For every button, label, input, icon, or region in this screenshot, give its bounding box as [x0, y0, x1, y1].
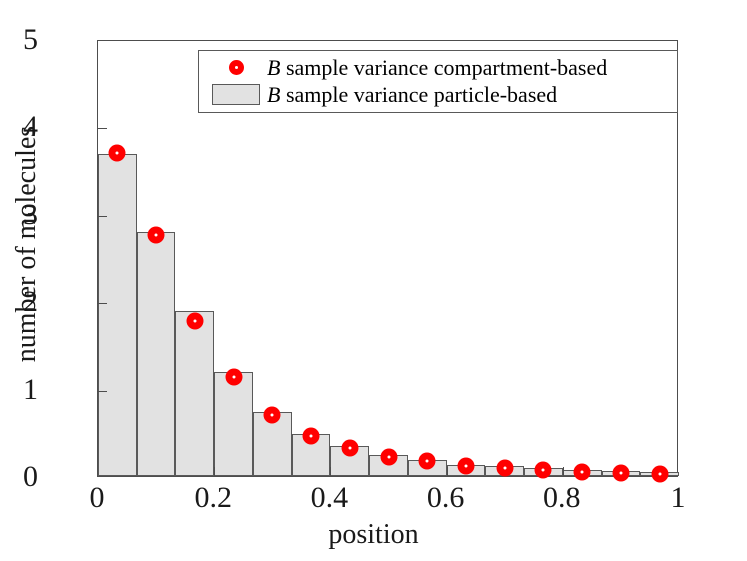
red-dot-marker-icon — [205, 54, 267, 81]
legend-label: B sample variance compartment-based — [267, 57, 607, 79]
data-point-marker — [225, 368, 242, 385]
data-point-marker — [148, 227, 165, 244]
x-axis-tick — [330, 467, 331, 476]
data-point-marker — [303, 428, 320, 445]
legend-label-text: sample variance particle-based — [280, 82, 557, 107]
y-axis-tick — [98, 303, 107, 304]
x-tick-label: 0.2 — [168, 483, 258, 513]
x-axis-title: position — [0, 521, 747, 549]
bar — [175, 311, 214, 476]
data-point-marker — [264, 407, 281, 424]
figure-canvas: 5 4 3 2 1 0 0 0.2 0.4 0.6 0.8 1 position… — [0, 0, 747, 561]
data-point-marker — [419, 453, 436, 470]
legend-label-text: sample variance compartment-based — [280, 55, 607, 80]
x-tick-label: 0.4 — [284, 483, 374, 513]
data-point-marker — [109, 144, 126, 161]
y-axis-tick — [98, 216, 107, 217]
bar — [98, 154, 137, 476]
data-point-marker — [651, 465, 668, 482]
data-point-marker — [612, 464, 629, 481]
x-axis-tick — [563, 467, 564, 476]
x-axis-tick — [214, 467, 215, 476]
x-tick-label: 0.6 — [401, 483, 491, 513]
bar — [214, 372, 253, 476]
data-point-marker — [341, 440, 358, 457]
y-axis-title: number of molecules — [13, 24, 41, 464]
gray-bar-swatch-icon — [205, 81, 267, 108]
data-point-marker — [380, 449, 397, 466]
legend-math-var: B — [267, 55, 280, 80]
data-point-marker — [186, 312, 203, 329]
data-point-marker — [496, 460, 513, 477]
y-tick-label: 0 — [0, 462, 38, 492]
y-axis-tick — [98, 128, 107, 129]
legend-entry-compartment-based: B sample variance compartment-based — [205, 54, 671, 81]
data-point-marker — [574, 463, 591, 480]
legend: B sample variance compartment-based B sa… — [198, 50, 678, 113]
x-tick-label: 0 — [52, 483, 142, 513]
x-tick-label: 0.8 — [517, 483, 607, 513]
data-point-marker — [457, 457, 474, 474]
data-point-marker — [535, 462, 552, 479]
y-axis-tick — [98, 391, 107, 392]
legend-label: B sample variance particle-based — [267, 84, 557, 106]
legend-entry-particle-based: B sample variance particle-based — [205, 81, 671, 108]
bar — [137, 232, 176, 476]
x-axis-tick — [447, 467, 448, 476]
legend-math-var: B — [267, 82, 280, 107]
x-tick-label: 1 — [633, 483, 723, 513]
